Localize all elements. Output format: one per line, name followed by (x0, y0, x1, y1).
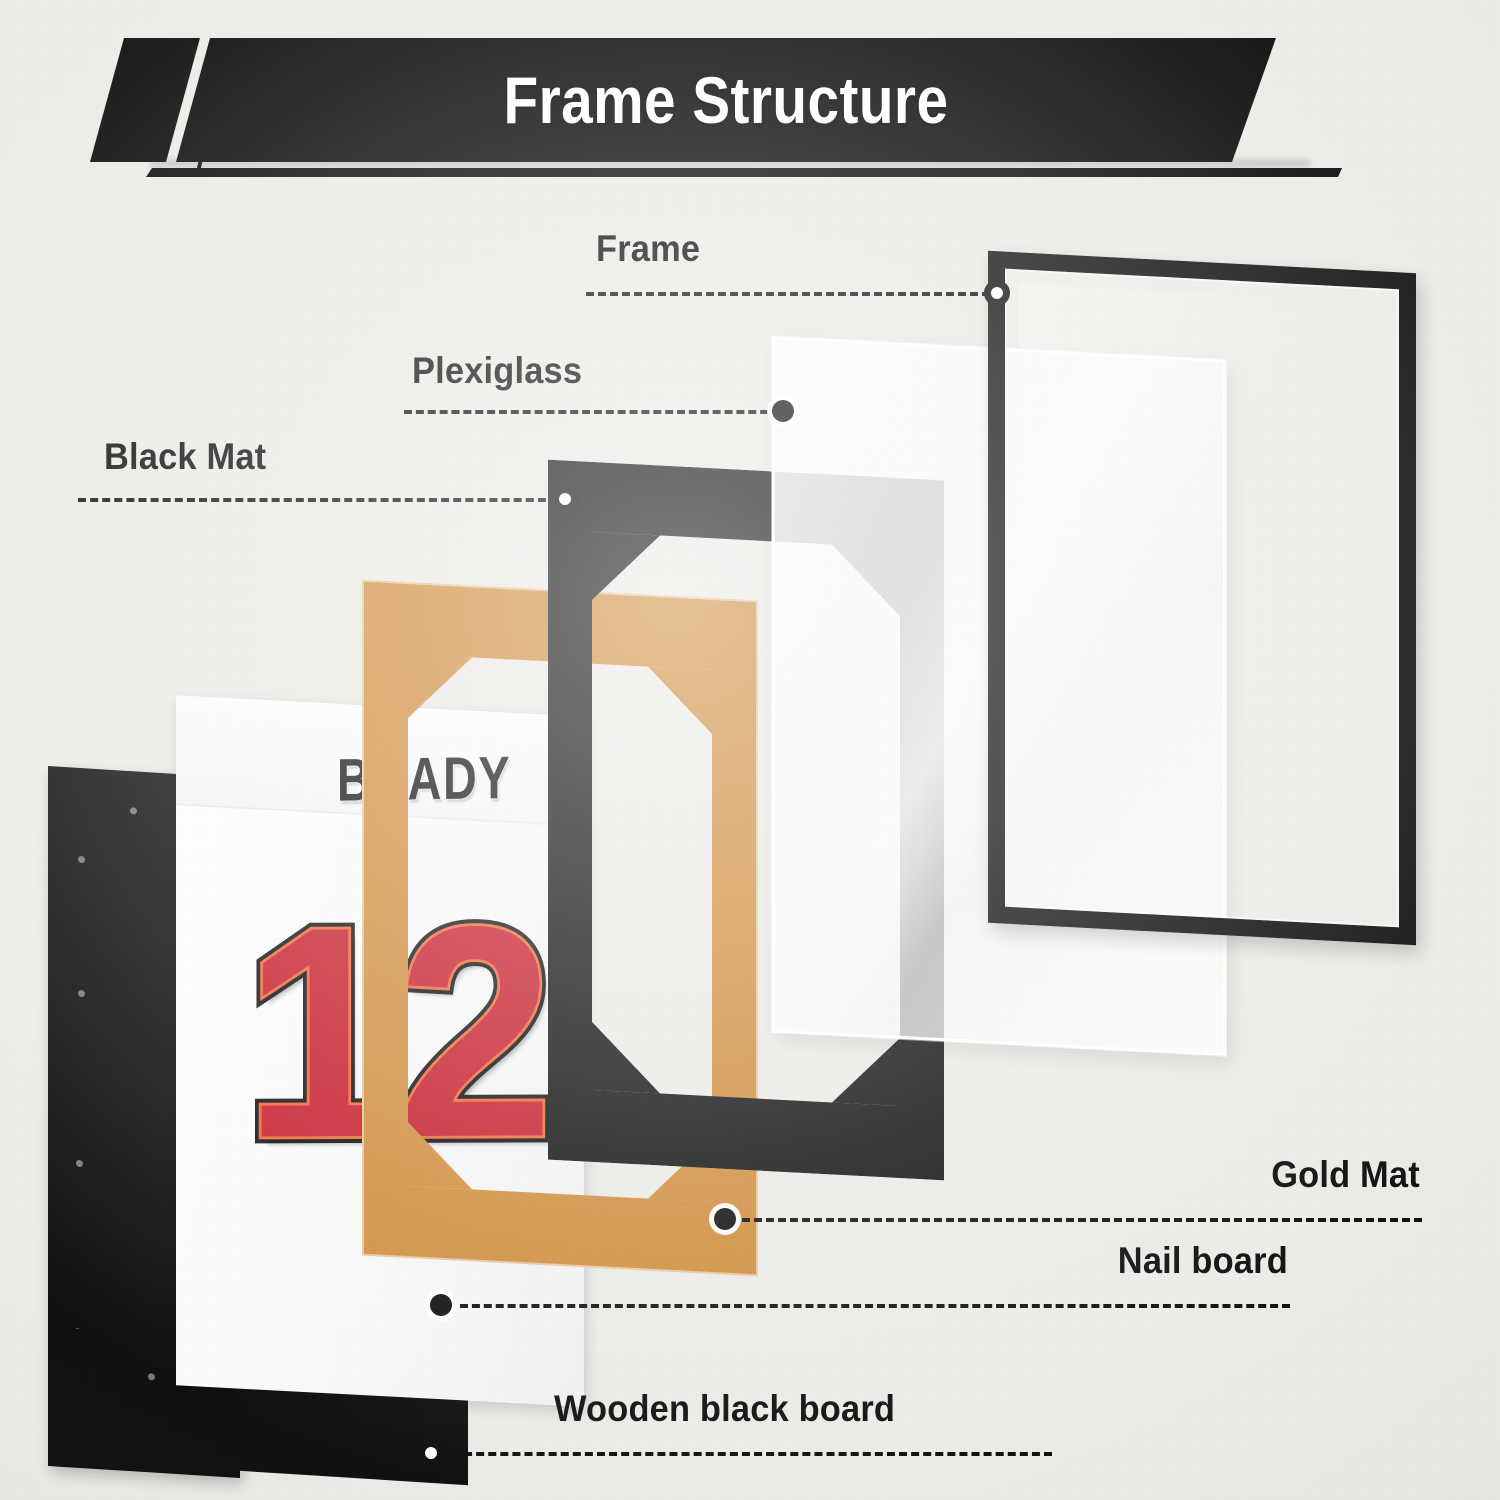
marker-frame (984, 280, 1010, 306)
frame-glass-sheen (1019, 283, 1385, 912)
leader-black-mat (78, 498, 558, 502)
leader-gold-mat (742, 1218, 1422, 1222)
marker-black-mat (552, 486, 578, 512)
nail-dot (78, 856, 85, 863)
label-wooden-black-board: Wooden black board (554, 1388, 895, 1430)
marker-gold-mat (714, 1208, 736, 1230)
banner-plate: Frame Structure (176, 38, 1276, 162)
leader-frame (586, 292, 990, 296)
header-banner: Frame Structure (0, 0, 1500, 210)
marker-nail-board (430, 1294, 452, 1316)
label-plexiglass: Plexiglass (412, 350, 582, 392)
nail-dot (148, 1373, 155, 1380)
leader-nail-board (460, 1304, 1290, 1308)
leader-wooden-black-board (452, 1452, 1052, 1456)
label-nail-board: Nail board (1118, 1240, 1288, 1282)
nail-dot (76, 1160, 83, 1167)
frame-layer (988, 251, 1416, 945)
nail-dot (78, 990, 85, 997)
page-title: Frame Structure (253, 38, 1199, 162)
leader-plexiglass (404, 410, 780, 414)
marker-wooden-black-board (418, 1440, 444, 1466)
label-gold-mat: Gold Mat (1271, 1154, 1420, 1196)
banner-underline (146, 168, 1342, 177)
label-black-mat: Black Mat (104, 436, 266, 478)
nail-dot (130, 807, 137, 814)
label-frame: Frame (596, 228, 700, 270)
marker-plexiglass (772, 400, 794, 422)
